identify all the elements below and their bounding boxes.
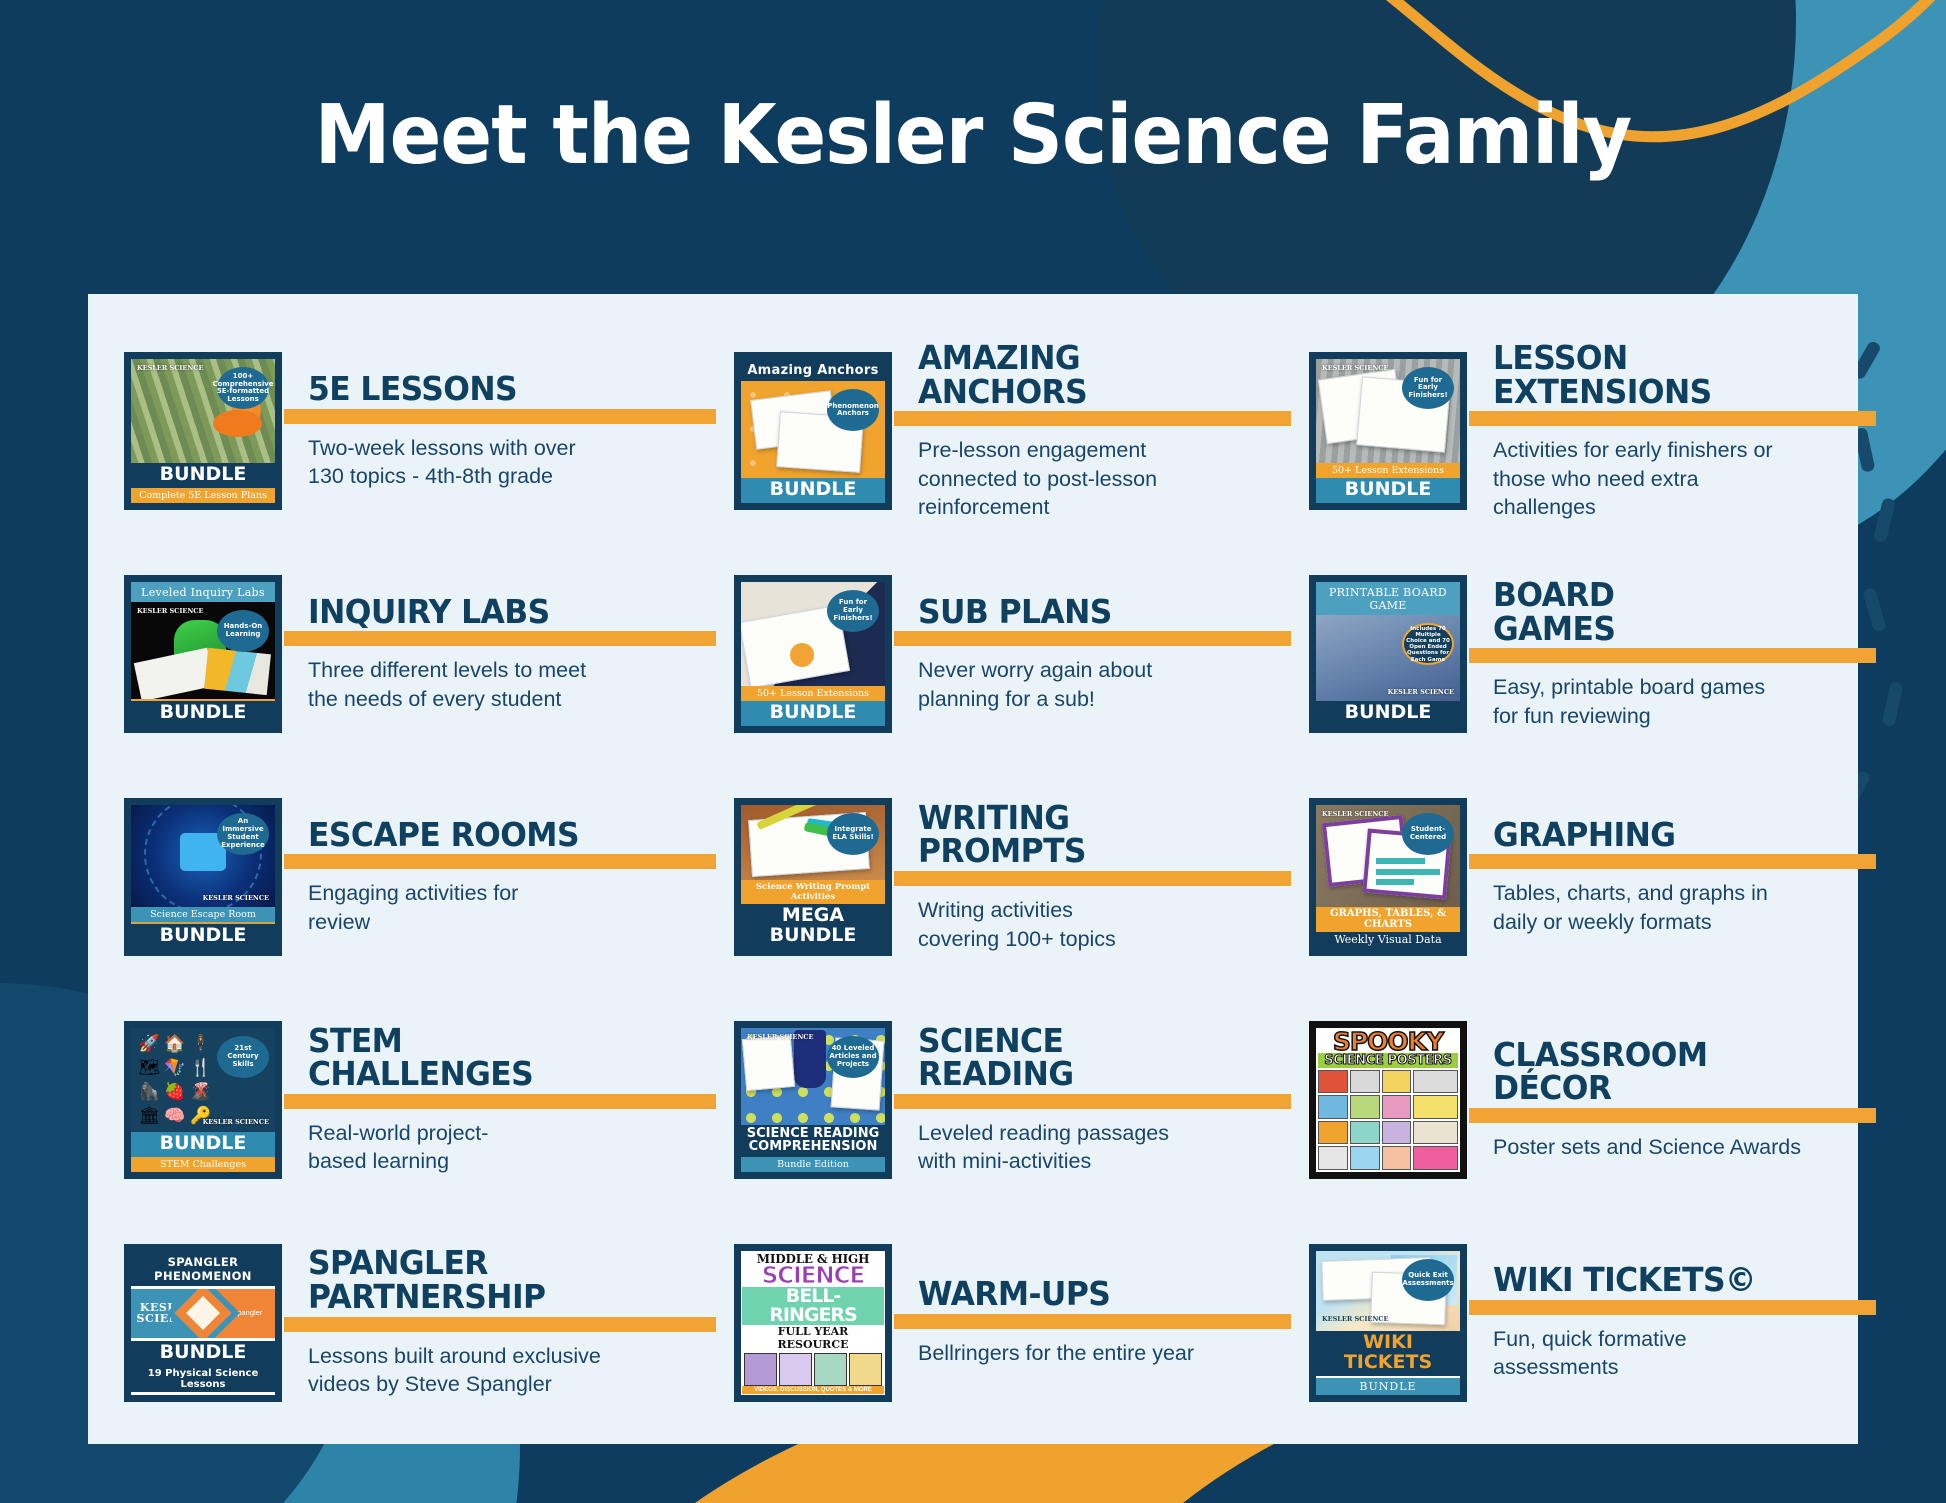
thumbnail-badge: 100+ Comprehensive 5E-formatted Lessons xyxy=(217,367,269,409)
product-item-lesson-extensions[interactable]: KESLER SCIENCE Fun for Early Finishers! … xyxy=(1295,320,1880,543)
kesler-science-logo-icon: KESLER SCIENCE xyxy=(747,1034,813,1041)
kesler-science-logo-icon: KESLER SCIENCE xyxy=(203,895,269,902)
stem-icon-volcano: 🌋 xyxy=(190,1082,211,1102)
thumbnail-escape-rooms: KESLER SCIENCE An Immersive Student Expe… xyxy=(114,798,292,956)
product-item-science-reading[interactable]: KESLER SCIENCE 40 Leveled Articles and P… xyxy=(720,988,1295,1211)
kesler-science-logo-icon: KESLER SCIENCE xyxy=(1322,811,1388,818)
title-underline-rule xyxy=(1469,411,1876,426)
kesler-science-logo-icon: KESLER SCIENCE xyxy=(1322,365,1388,372)
product-title: SCIENCE READING xyxy=(918,1024,1272,1091)
cover-footer-strip: VIDEOS, DISCUSSION, QUOTES & MORE xyxy=(742,1386,884,1394)
product-title: 5E LESSONS xyxy=(308,372,696,406)
product-description: Real-world project- based learning xyxy=(308,1119,716,1176)
thumbnail-inquiry-labs: Leveled Inquiry Labs KESLER SCIENCE Hand… xyxy=(114,575,292,733)
thumbnail-badge: An Immersive Student Experience xyxy=(217,813,269,855)
thumbnail-caption: BUNDLE xyxy=(131,463,275,488)
product-title: LESSON EXTENSIONS xyxy=(1493,341,1857,408)
thumbnail-caption: BUNDLE xyxy=(131,1132,275,1157)
thumbnail-badge: Integrate ELA Skills! xyxy=(827,813,879,855)
product-title: INQUIRY LABS xyxy=(308,595,696,629)
product-item-board-games[interactable]: PRINTABLE BOARD GAME KESLER SCIENCE Incl… xyxy=(1295,543,1880,766)
product-description: Activities for early finishers or those … xyxy=(1493,436,1876,522)
product-description: Leveled reading passages with mini-activ… xyxy=(918,1119,1291,1176)
thumbnail-caption: BUNDLE xyxy=(741,478,885,503)
product-description: Tables, charts, and graphs in daily or w… xyxy=(1493,879,1876,936)
product-item-writing-prompts[interactable]: Integrate ELA Skills! Science Writing Pr… xyxy=(720,766,1295,989)
title-underline-rule xyxy=(1469,854,1876,869)
thumbnail-badge: Quick Exit Assessments xyxy=(1402,1259,1454,1301)
title-underline-rule xyxy=(894,411,1291,426)
thumbnail-caption: WIKI TICKETS xyxy=(1316,1331,1460,1376)
lab-glassware-art xyxy=(204,648,271,695)
title-underline-rule xyxy=(1469,1300,1876,1315)
kesler-science-logo-icon: KESLER SCIENCE xyxy=(1322,1316,1388,1323)
product-item-amazing-anchors[interactable]: Amazing Anchors Phenomenon Anchors BUNDL… xyxy=(720,320,1295,543)
stem-icon-kite: 🪁 xyxy=(164,1058,185,1078)
thumbnail-writing-prompts: Integrate ELA Skills! Science Writing Pr… xyxy=(724,798,902,956)
spooky-posters-art: SPOOKY SCIENCE POSTERS xyxy=(1316,1028,1460,1172)
thumbnail-caption: BUNDLE xyxy=(741,701,885,726)
product-item-warm-ups[interactable]: MIDDLE & HIGH SCIENCE BELL-RINGERS FULL … xyxy=(720,1211,1295,1434)
thumbnail-header: Leveled Inquiry Labs xyxy=(131,582,275,602)
product-description: Fun, quick formative assessments xyxy=(1493,1325,1876,1382)
thumbnail-header: PRINTABLE BOARD GAME xyxy=(1316,582,1460,615)
thumbnail-badge: Fun for Early Finishers! xyxy=(827,590,879,632)
product-title: WRITING PROMPTS xyxy=(918,801,1272,868)
thumbnail-amazing-anchors: Amazing Anchors Phenomenon Anchors BUNDL… xyxy=(724,352,902,510)
kesler-science-logo-icon: KESLER SCIENCE xyxy=(203,1119,269,1126)
product-title: ESCAPE ROOMS xyxy=(308,818,696,852)
thumbnail-science-reading: KESLER SCIENCE 40 Leveled Articles and P… xyxy=(724,1021,902,1179)
title-underline-rule xyxy=(284,854,716,869)
cover-line-3: BELL-RINGERS xyxy=(742,1287,884,1325)
thumbnail-caption: Weekly Visual Data xyxy=(1316,932,1460,949)
thumbnail-strip: 50+ Lesson Extensions xyxy=(741,686,885,701)
product-title: CLASSROOM DÉCOR xyxy=(1493,1038,1857,1105)
kesler-science-logo-icon: KESLER SCIENCE xyxy=(1388,689,1454,696)
thumbnail-strip: Bundle Edition xyxy=(741,1157,885,1172)
stem-icon-birdhouse: 🏠 xyxy=(164,1034,185,1054)
product-item-wiki-tickets[interactable]: KESLER SCIENCE Quick Exit Assessments WI… xyxy=(1295,1211,1880,1434)
thumbnail-badge: Includes 70 Multiple Choice and 70 Open … xyxy=(1402,623,1454,665)
thumbnail-caption: BUNDLE xyxy=(1316,478,1460,503)
product-title: SUB PLANS xyxy=(918,595,1272,629)
cover-card-row xyxy=(742,1351,884,1385)
stem-icon-gorilla: 🦍 xyxy=(139,1082,160,1102)
thumbnail-strip: 50+ Lesson Extensions xyxy=(1316,463,1460,478)
product-description: Never worry again about planning for a s… xyxy=(918,656,1291,713)
product-description: Bellringers for the entire year xyxy=(918,1339,1291,1368)
stem-icon-brain: 🧠 xyxy=(164,1106,185,1126)
poster-title-spooky: SPOOKY xyxy=(1318,1030,1458,1053)
title-underline-rule xyxy=(1469,1108,1876,1123)
thumbnail-board-games: PRINTABLE BOARD GAME KESLER SCIENCE Incl… xyxy=(1299,575,1477,733)
product-title: STEM CHALLENGES xyxy=(308,1024,696,1091)
product-title: BOARD GAMES xyxy=(1493,578,1857,645)
thumbnail-badge: 21st Century Skills xyxy=(217,1036,269,1078)
poster-subtitle: SCIENCE POSTERS xyxy=(1318,1053,1458,1068)
product-description: Poster sets and Science Awards xyxy=(1493,1133,1876,1162)
kesler-science-logo-icon: KESLER SCIENCE xyxy=(137,365,203,372)
thumbnail-badge: 40 Leveled Articles and Projects xyxy=(827,1036,879,1078)
thumbnail-5e-lessons: KESLER SCIENCE 100+ Comprehensive 5E-for… xyxy=(114,352,292,510)
thumbnail-badge: Hands-On Learning xyxy=(217,610,269,652)
thumbnail-sub-plans: Fun for Early Finishers! 50+ Lesson Exte… xyxy=(724,575,902,733)
page-title: Meet the Kesler Science Family xyxy=(68,88,1878,183)
product-description: Three different levels to meet the needs… xyxy=(308,656,716,713)
thumbnail-strip: Complete 5E Lesson Plans xyxy=(131,488,275,503)
product-description: Easy, printable board games for fun revi… xyxy=(1493,673,1876,730)
product-item-graphing[interactable]: KESLER SCIENCE Student-Centered GRAPHS, … xyxy=(1295,766,1880,989)
thumbnail-caption: BUNDLE xyxy=(131,922,275,949)
product-description: Pre-lesson engagement connected to post-… xyxy=(918,436,1291,522)
thumbnail-warm-ups: MIDDLE & HIGH SCIENCE BELL-RINGERS FULL … xyxy=(724,1244,902,1402)
product-description: Lessons built around exclusive videos by… xyxy=(308,1342,716,1399)
title-underline-rule xyxy=(894,631,1291,646)
thumbnail-strip: GRAPHS, TABLES, & CHARTS xyxy=(1316,907,1460,932)
thumbnail-classroom-decor: SPOOKY SCIENCE POSTERS xyxy=(1299,1021,1477,1179)
product-title: WIKI TICKETS© xyxy=(1493,1263,1857,1297)
thumbnail-caption: BUNDLE xyxy=(131,701,275,726)
product-description: Writing activities covering 100+ topics xyxy=(918,896,1291,953)
thumbnail-wiki-tickets: KESLER SCIENCE Quick Exit Assessments WI… xyxy=(1299,1244,1477,1402)
stem-icon-utensils: 🍴 xyxy=(190,1058,211,1078)
title-underline-rule xyxy=(894,1314,1291,1329)
stem-icon-figure: 🕴 xyxy=(190,1034,211,1054)
title-underline-rule xyxy=(894,1094,1291,1109)
thumbnail-spangler-partnership: SPANGLER PHENOMENON KESLER SCIENCE steve… xyxy=(114,1244,292,1402)
product-title: WARM-UPS xyxy=(918,1277,1272,1311)
product-item-classroom-decor[interactable]: SPOOKY SCIENCE POSTERS xyxy=(1295,988,1880,1211)
thumbnail-graphing: KESLER SCIENCE Student-Centered GRAPHS, … xyxy=(1299,798,1477,956)
title-underline-rule xyxy=(284,409,716,424)
thumbnail-strip: Science Escape Room xyxy=(131,907,275,922)
product-description: Two-week lessons with over 130 topics - … xyxy=(308,434,716,491)
thumbnail-strip: 19 Physical Science Lessons xyxy=(131,1366,275,1395)
title-underline-rule xyxy=(284,1317,716,1332)
cover-line-4: FULL YEAR RESOURCE xyxy=(742,1325,884,1351)
thumbnail-strip: BUNDLE xyxy=(1316,1376,1460,1395)
cover-line-2: SCIENCE xyxy=(742,1266,884,1288)
thumbnail-caption: BUNDLE xyxy=(131,1341,275,1366)
thumbnail-lesson-extensions: KESLER SCIENCE Fun for Early Finishers! … xyxy=(1299,352,1477,510)
stem-icon-strawberry: 🍓 xyxy=(164,1082,185,1102)
product-item-5e-lessons[interactable]: KESLER SCIENCE 100+ Comprehensive 5E-for… xyxy=(110,320,720,543)
product-description: Engaging activities for review xyxy=(308,879,716,936)
title-underline-rule xyxy=(284,631,716,646)
product-item-escape-rooms[interactable]: KESLER SCIENCE An Immersive Student Expe… xyxy=(110,766,720,989)
stem-icon-building: 🏛 xyxy=(139,1106,161,1126)
stem-icon-rocket: 🚀 xyxy=(139,1034,160,1054)
thumbnail-strip: Science Writing Prompt Activities xyxy=(741,880,885,904)
thumbnail-caption: BUNDLE xyxy=(1316,701,1460,726)
partnership-logos-art: KESLER SCIENCE stevespangler xyxy=(131,1289,275,1338)
product-item-spangler-partnership[interactable]: SPANGLER PHENOMENON KESLER SCIENCE steve… xyxy=(110,1211,720,1434)
thumbnail-strip: STEM Challenges xyxy=(131,1157,275,1172)
thumbnail-caption: SCIENCE READING COMPREHENSION xyxy=(741,1125,885,1157)
thumbnail-header: Amazing Anchors xyxy=(741,359,885,381)
thumbnail-caption: MEGA BUNDLE xyxy=(741,904,885,949)
product-title: GRAPHING xyxy=(1493,818,1857,852)
stem-icon-map: 🗺 xyxy=(139,1058,161,1078)
product-title: SPANGLER PARTNERSHIP xyxy=(308,1246,696,1313)
kesler-science-logo-icon: KESLER SCIENCE xyxy=(137,608,203,615)
product-title: AMAZING ANCHORS xyxy=(918,341,1272,408)
product-item-inquiry-labs[interactable]: Leveled Inquiry Labs KESLER SCIENCE Hand… xyxy=(110,543,720,766)
bell-ringers-cover-art: MIDDLE & HIGH SCIENCE BELL-RINGERS FULL … xyxy=(741,1251,885,1395)
thumbnail-header: SPANGLER PHENOMENON xyxy=(131,1251,275,1286)
title-underline-rule xyxy=(1469,648,1876,663)
title-underline-rule xyxy=(894,871,1291,886)
thumbnail-badge: Student-Centered xyxy=(1402,813,1454,855)
title-underline-rule xyxy=(284,1094,716,1109)
thumbnail-stem-challenges: 🚀 🏠 🕴 🗺 🪁 🍴 🦍 🍓 🌋 🏛 🧠 🔑 KESLER SCIE xyxy=(114,1021,292,1179)
product-item-sub-plans[interactable]: Fun for Early Finishers! 50+ Lesson Exte… xyxy=(720,543,1295,766)
product-grid-panel: KESLER SCIENCE 100+ Comprehensive 5E-for… xyxy=(88,294,1858,1444)
product-item-stem-challenges[interactable]: 🚀 🏠 🕴 🗺 🪁 🍴 🦍 🍓 🌋 🏛 🧠 🔑 KESLER SCIE xyxy=(110,988,720,1211)
